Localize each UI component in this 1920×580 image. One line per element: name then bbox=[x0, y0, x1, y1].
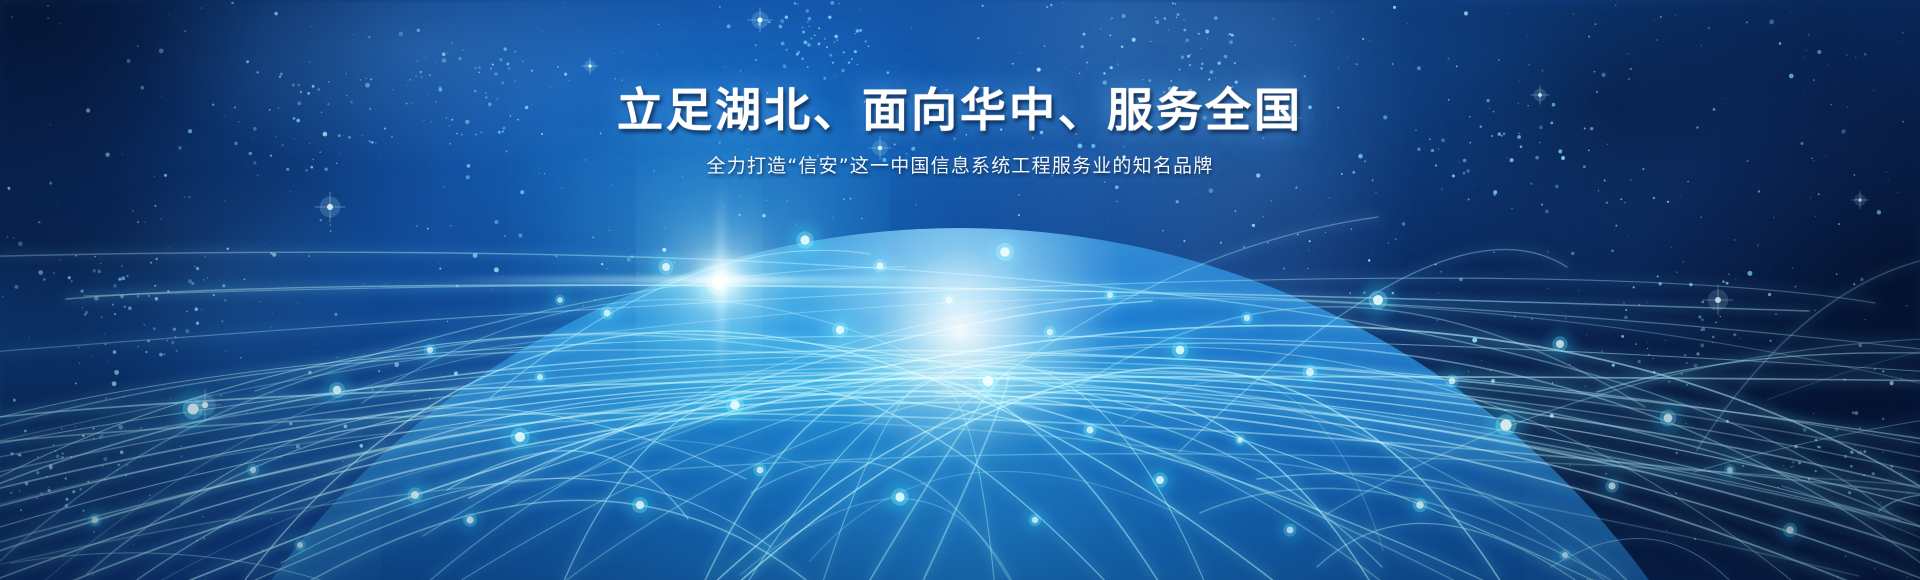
banner-text-block: 立足湖北、面向华中、服务全国 全力打造“信安”这一中国信息系统工程服务业的知名品… bbox=[0, 82, 1920, 180]
globe-atmosphere-glow bbox=[110, 228, 1810, 580]
banner-headline: 立足湖北、面向华中、服务全国 bbox=[0, 82, 1920, 138]
central-light-burst bbox=[721, 279, 723, 281]
earth-globe bbox=[110, 228, 1810, 580]
banner-subtitle: 全力打造“信安”这一中国信息系统工程服务业的知名品牌 bbox=[0, 152, 1920, 180]
hero-banner: 立足湖北、面向华中、服务全国 全力打造“信安”这一中国信息系统工程服务业的知名品… bbox=[0, 0, 1920, 580]
